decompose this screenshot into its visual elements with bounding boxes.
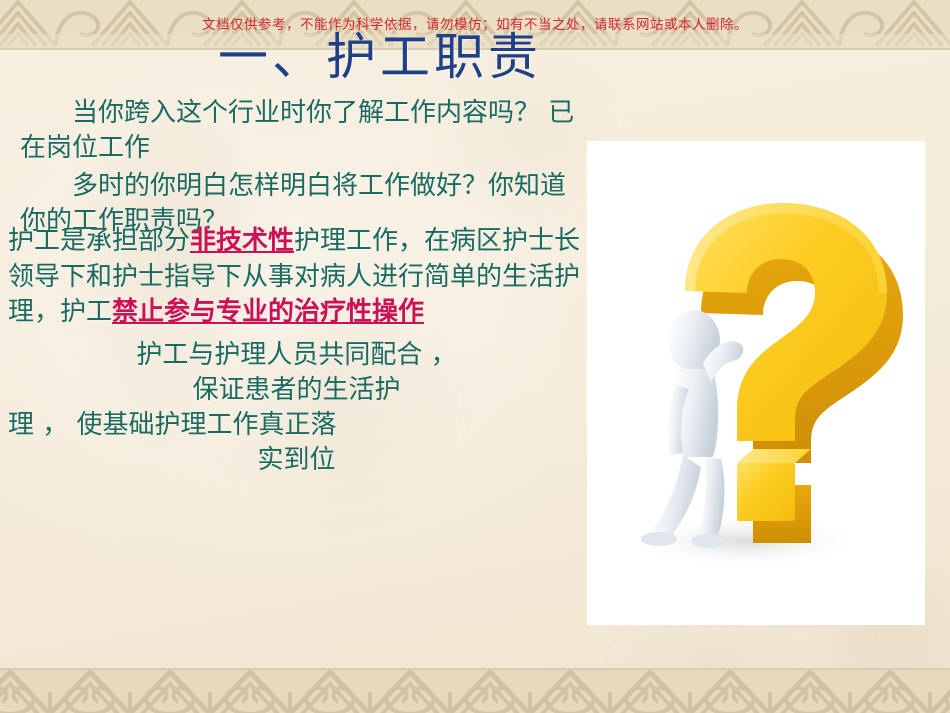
closing-line-1: 护工与护理人员共同配合 ， <box>8 338 585 373</box>
duty-paragraph: 护工是承担部分非技术性护理工作，在病区护士长领导下和护士指导下从事对病人进行简单… <box>0 224 585 330</box>
duty-highlight-non-technical: 非技术性 <box>190 226 294 256</box>
question-mark-illustration <box>587 141 925 625</box>
duty-highlight-forbidden: 禁止参与专业的治疗性操作 <box>112 297 424 327</box>
bottom-decorative-border <box>0 668 950 713</box>
duty-segment-1: 护工是承担部分 <box>8 226 190 256</box>
slide-canvas: 文档仅供参考，不能作为科学依据，请勿模仿；如有不当之处，请联系网站或本人删除。 … <box>0 0 950 713</box>
closing-line-3: 理 ， 使基础护理工作真正落 <box>8 408 585 443</box>
question-paragraph-1: 当你跨入这个行业时你了解工作内容吗？ 已在岗位工作 <box>0 96 585 165</box>
closing-line-4: 实到位 <box>8 443 585 478</box>
closing-line-2: 保证患者的生活护 <box>8 373 585 408</box>
page-title: 一、护工职责 <box>0 28 760 87</box>
closing-paragraph: 护工与护理人员共同配合 ， 保证患者的生活护 理 ， 使基础护理工作真正落 实到… <box>0 338 585 477</box>
slide-body: 当你跨入这个行业时你了解工作内容吗？ 已在岗位工作 多时的你明白怎样明白将工作做… <box>0 96 585 478</box>
disclaimer-text: 文档仅供参考，不能作为科学依据，请勿模仿；如有不当之处，请联系网站或本人删除。 <box>0 19 950 33</box>
